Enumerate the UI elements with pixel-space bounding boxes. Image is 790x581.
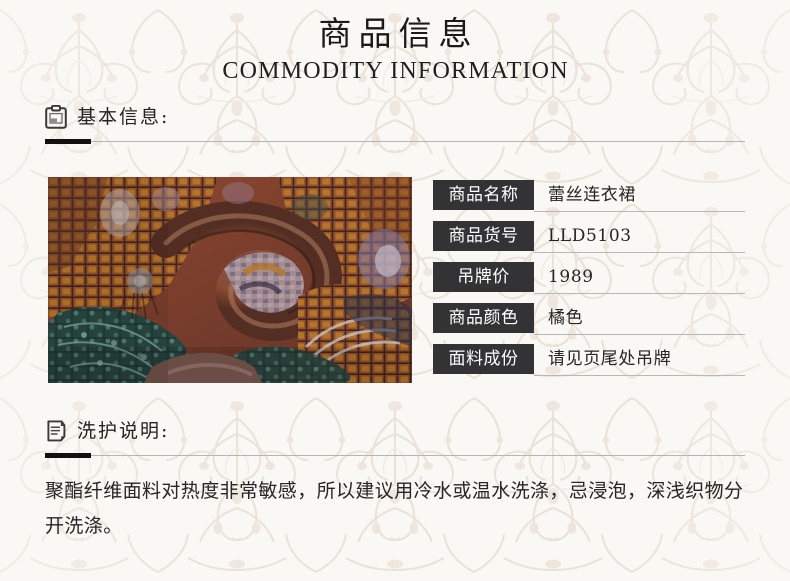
table-row: 商品货号 LLD5103 bbox=[433, 221, 745, 262]
table-row: 商品名称 蕾丝连衣裙 bbox=[433, 180, 745, 221]
spec-value-color: 橘色 bbox=[534, 303, 745, 333]
spec-value-fabric: 请见页尾处吊牌 bbox=[534, 344, 745, 374]
basic-info-section-header: 基本信息: bbox=[45, 104, 745, 144]
care-section-header: 洗护说明: bbox=[45, 418, 745, 458]
document-lines-icon bbox=[45, 419, 67, 443]
care-heading: 洗护说明: bbox=[77, 419, 169, 443]
divider-light-segment bbox=[45, 455, 745, 456]
row-underline bbox=[534, 334, 745, 335]
clipboard-icon bbox=[45, 105, 67, 129]
row-underline bbox=[534, 211, 745, 212]
product-photo bbox=[48, 177, 412, 383]
table-row: 吊牌价 1989 bbox=[433, 262, 745, 303]
basic-info-divider bbox=[45, 139, 745, 144]
table-row: 面料成份 请见页尾处吊牌 bbox=[433, 344, 745, 385]
row-underline bbox=[534, 252, 745, 253]
spec-value-tag-price: 1989 bbox=[534, 262, 745, 292]
row-underline bbox=[534, 293, 745, 294]
divider-dark-segment bbox=[45, 139, 91, 144]
care-divider bbox=[45, 453, 745, 458]
page-title-en: COMMODITY INFORMATION bbox=[0, 56, 790, 86]
spec-label-fabric: 面料成份 bbox=[433, 344, 534, 374]
product-spec-table: 商品名称 蕾丝连衣裙 商品货号 LLD5103 吊牌价 1989 商品颜色 橘色 bbox=[433, 180, 745, 385]
product-info-page: 商品信息 COMMODITY INFORMATION 基本信息: bbox=[0, 0, 790, 581]
spec-value-product-code: LLD5103 bbox=[534, 221, 745, 251]
spec-value-product-name: 蕾丝连衣裙 bbox=[534, 180, 745, 210]
page-header: 商品信息 COMMODITY INFORMATION bbox=[0, 14, 790, 86]
table-row: 商品颜色 橘色 bbox=[433, 303, 745, 344]
care-instructions-text: 聚酯纤维面料对热度非常敏感，所以建议用冷水或温水洗涤，忌浸泡，深浅织物分开洗涤。 bbox=[45, 474, 757, 544]
spec-label-product-code: 商品货号 bbox=[433, 221, 534, 251]
basic-info-heading: 基本信息: bbox=[77, 105, 169, 129]
row-underline bbox=[534, 375, 745, 376]
divider-light-segment bbox=[45, 141, 745, 142]
spec-label-color: 商品颜色 bbox=[433, 303, 534, 333]
page-title-cn: 商品信息 bbox=[0, 14, 790, 54]
spec-label-product-name: 商品名称 bbox=[433, 180, 534, 210]
divider-dark-segment bbox=[45, 453, 91, 458]
spec-label-tag-price: 吊牌价 bbox=[433, 262, 534, 292]
